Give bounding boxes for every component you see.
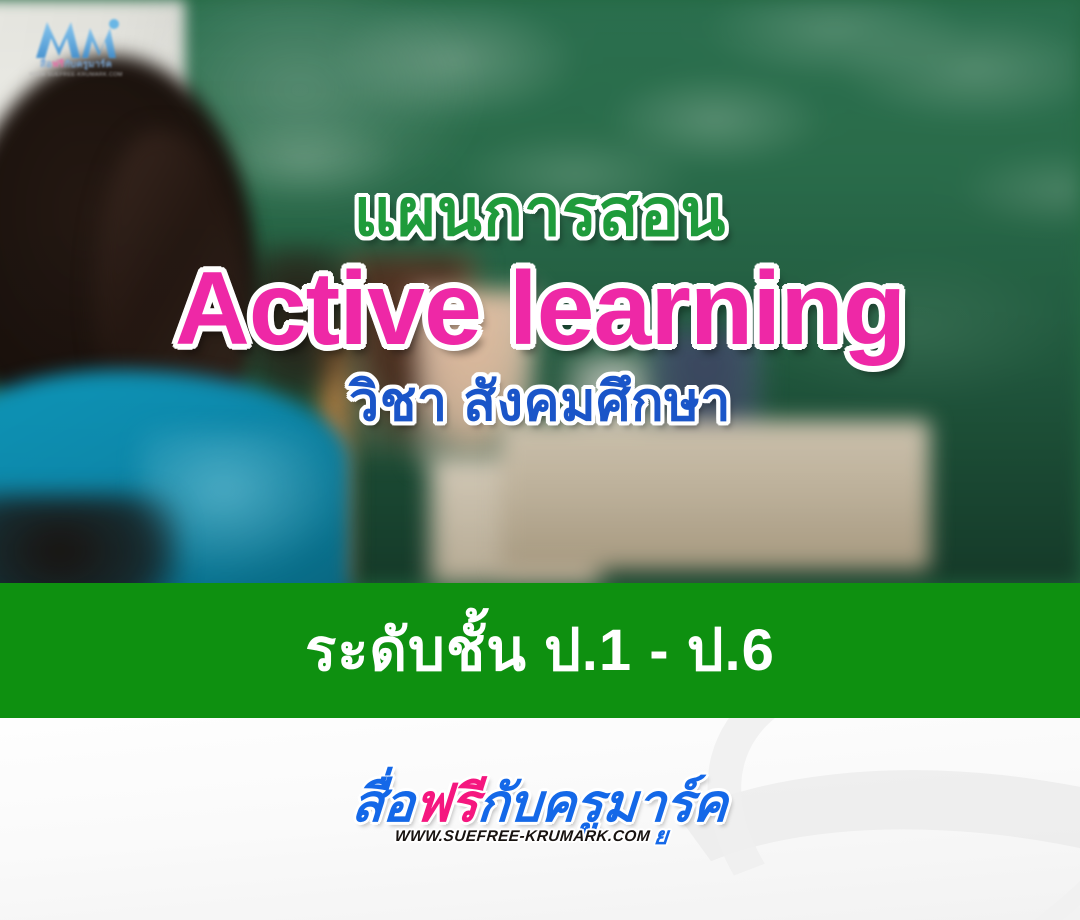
thai-title: แผนการสอน — [354, 178, 727, 247]
subject-subtitle: วิชา สังคมศึกษา — [349, 373, 731, 432]
watermark-url-tail-glyph: ย — [653, 823, 670, 850]
footer-area: สื่อฟรีกับครูมาร์ค WWW.SUEFREE-KRUMARK.C… — [0, 718, 1080, 920]
english-title: Active learning — [175, 257, 906, 361]
watermark-url: WWW.SUEFREE-KRUMARK.COMย — [393, 816, 670, 855]
grade-level-band: ระดับชั้น ป.1 - ป.6 — [0, 583, 1080, 718]
grade-level-text: ระดับชั้น ป.1 - ป.6 — [305, 619, 775, 683]
headline-stack: แผนการสอน Active learning วิชา สังคมศึกษ… — [0, 0, 1080, 583]
watermark-url-text: WWW.SUEFREE-KRUMARK.COM — [394, 828, 651, 845]
footer-watermark-logo: สื่อฟรีกับครูมาร์ค WWW.SUEFREE-KRUMARK.C… — [0, 778, 1080, 855]
poster-root: สื่อฟรีกับครูมาร์ค WWW.SUEFREE-KRUMARK.C… — [0, 0, 1080, 920]
